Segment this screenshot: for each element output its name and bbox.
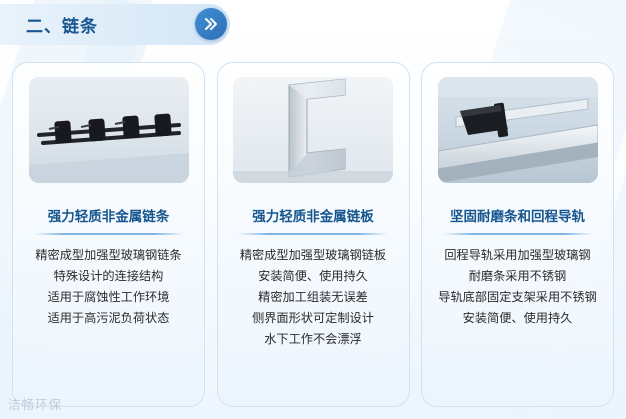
card-chain: 强力轻质非金属链条 精密成型加强型玻璃钢链条 特殊设计的连接结构 适用于腐蚀性工… — [12, 62, 205, 407]
watermark: 洁畅环保 — [8, 394, 62, 413]
card-caption: 强力轻质非金属链板 — [252, 205, 374, 225]
list-item: 回程导轨采用加强型玻璃钢 — [438, 245, 596, 266]
list-item: 特殊设计的连接结构 — [35, 266, 181, 287]
list-item: 适用于高污泥负荷状态 — [35, 308, 181, 329]
card-caption: 强力轻质非金属链条 — [48, 205, 170, 225]
card-row: 强力轻质非金属链条 精密成型加强型玻璃钢链条 特殊设计的连接结构 适用于腐蚀性工… — [0, 62, 626, 407]
caption-divider — [443, 233, 593, 235]
list-item: 精密加工组装无误差 — [240, 287, 386, 308]
chain-photo — [29, 77, 189, 183]
wear-strip-rail-photo — [438, 77, 598, 183]
list-item: 侧界面形状可定制设计 — [240, 308, 386, 329]
card-caption: 坚固耐磨条和回程导轨 — [450, 205, 585, 225]
list-item: 安装简便、使用持久 — [438, 308, 596, 329]
list-item: 水下工作不会漂浮 — [240, 329, 386, 350]
list-item: 导轨底部固定支架采用不锈钢 — [438, 287, 596, 308]
page-title: 二、链条 — [26, 12, 98, 37]
card-bullet-list: 精密成型加强型玻璃钢链板 安装简便、使用持久 精密加工组装无误差 侧界面形状可定… — [240, 245, 386, 350]
double-chevron-right-icon — [195, 8, 227, 40]
caption-divider — [34, 233, 184, 235]
list-item: 适用于腐蚀性工作环境 — [35, 287, 181, 308]
list-item: 安装简便、使用持久 — [240, 266, 386, 287]
card-bullet-list: 回程导轨采用加强型玻璃钢 耐磨条采用不锈钢 导轨底部固定支架采用不锈钢 安装简便… — [438, 245, 596, 329]
card-bullet-list: 精密成型加强型玻璃钢链条 特殊设计的连接结构 适用于腐蚀性工作环境 适用于高污泥… — [35, 245, 181, 329]
card-chain-plate: 强力轻质非金属链板 精密成型加强型玻璃钢链板 安装简便、使用持久 精密加工组装无… — [217, 62, 410, 407]
list-item: 耐磨条采用不锈钢 — [438, 266, 596, 287]
list-item: 精密成型加强型玻璃钢链板 — [240, 245, 386, 266]
list-item: 精密成型加强型玻璃钢链条 — [35, 245, 181, 266]
card-wear-strip-rail: 坚固耐磨条和回程导轨 回程导轨采用加强型玻璃钢 耐磨条采用不锈钢 导轨底部固定支… — [421, 62, 614, 407]
caption-divider — [238, 233, 388, 235]
chain-plate-photo — [233, 77, 393, 183]
slide-page: 二、链条 — [0, 0, 626, 419]
